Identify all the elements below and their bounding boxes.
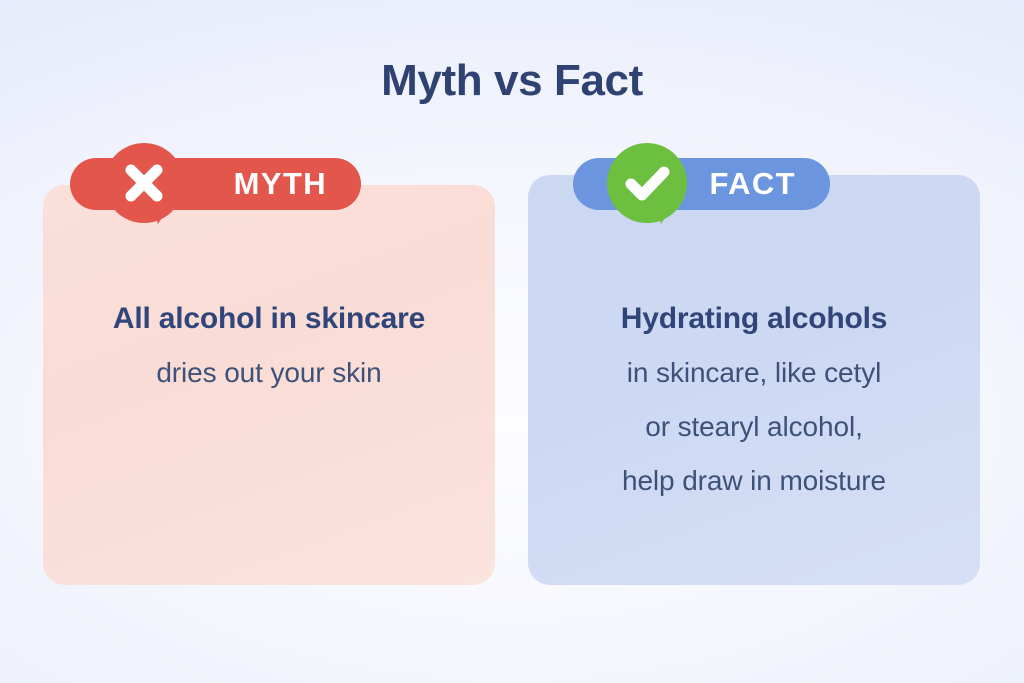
fact-line-2: in skincare, like cetyl [550,346,958,400]
page-title: Myth vs Fact [0,56,1024,106]
cross-icon [104,143,184,223]
myth-line-1: All alcohol in skincare [65,292,473,346]
myth-badge: MYTH [104,157,361,211]
fact-line-1: Hydrating alcohols [550,292,958,346]
fact-card: Hydrating alcohols in skincare, like cet… [528,175,980,585]
fact-line-3: or stearyl alcohol, [550,400,958,454]
myth-vs-fact-infographic: Myth vs Fact All alcohol in skincare dri… [0,0,1024,683]
myth-bubble [104,143,190,229]
check-icon [607,143,687,223]
fact-badge-label: FACT [709,166,796,202]
myth-card: All alcohol in skincare dries out your s… [43,185,495,585]
myth-line-2: dries out your skin [65,346,473,400]
myth-card-text: All alcohol in skincare dries out your s… [43,292,495,400]
fact-bubble [607,143,693,229]
fact-line-4: help draw in moisture [550,454,958,508]
fact-card-text: Hydrating alcohols in skincare, like cet… [528,292,980,508]
myth-badge-label: MYTH [234,166,327,202]
fact-badge: FACT [607,157,830,211]
